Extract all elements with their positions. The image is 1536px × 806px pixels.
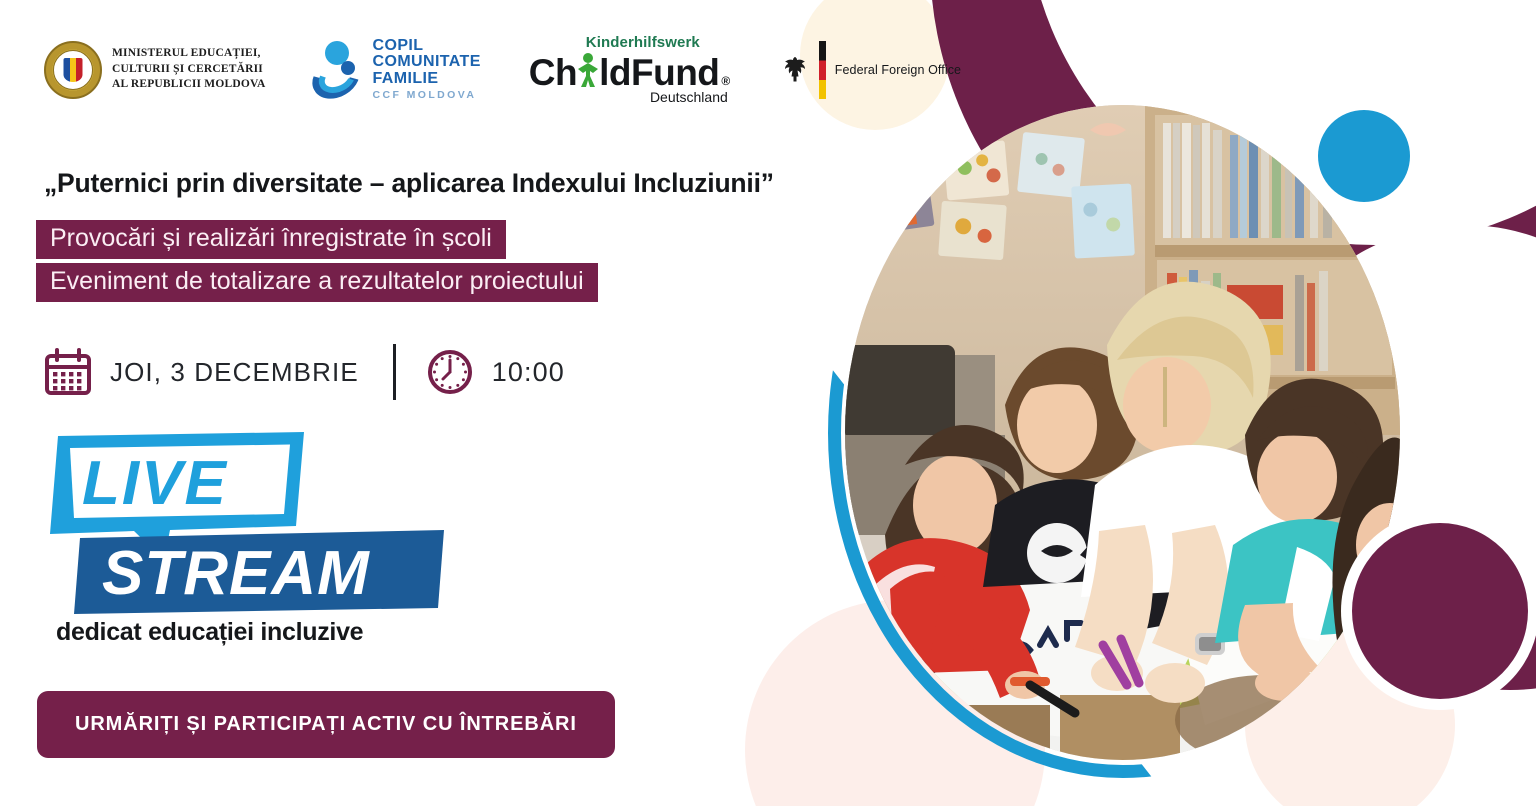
- childfund-person-icon: [577, 51, 599, 85]
- moldova-state-seal-icon: [44, 41, 102, 99]
- stream-word: STREAM: [102, 539, 370, 608]
- participate-cta-button[interactable]: URMĂRIȚI ȘI PARTICIPAȚI ACTIV CU ÎNTREBĂ…: [37, 691, 615, 758]
- ccf-logo-text: COPIL COMUNITATE FAMILIE CCF MOLDOVA: [373, 38, 481, 101]
- event-date-label: JOI, 3 DECEMBRIE: [110, 357, 359, 388]
- partner-logos: MINISTERUL EDUCAȚIEI, CULTURII ȘI CERCET…: [44, 34, 961, 105]
- event-datetime: JOI, 3 DECEMBRIE 10:00: [44, 344, 565, 400]
- childfund-country-label: Deutschland: [650, 89, 728, 105]
- ccf-line-1: COPIL: [373, 38, 481, 54]
- ministry-of-education-moldova-logo: MINISTERUL EDUCAȚIEI, CULTURII ȘI CERCET…: [44, 41, 266, 99]
- subtitle-bar-2: Eveniment de totalizare a rezultatelor p…: [36, 263, 598, 302]
- federal-foreign-office-label: Federal Foreign Office: [835, 63, 961, 77]
- live-stream-logo: LIVE STREAM dedicat educației incluzive: [46, 430, 446, 615]
- childfund-person-glyph: [576, 52, 600, 88]
- blue-dot-decoration: [1318, 110, 1410, 202]
- live-stream-caption: dedicat educației incluzive: [56, 618, 363, 647]
- maroon-dot-decoration: [1352, 523, 1528, 699]
- ccf-swoosh-icon: [311, 41, 365, 97]
- childfund-wordmark-pre: Ch: [529, 54, 577, 91]
- ccf-moldova-logo: COPIL COMUNITATE FAMILIE CCF MOLDOVA: [311, 38, 481, 101]
- ccf-line-2: COMUNITATE: [373, 54, 481, 70]
- german-eagle-icon: [782, 55, 810, 85]
- event-time-label: 10:00: [492, 357, 565, 388]
- german-flag-bar: [819, 41, 826, 99]
- live-word: LIVE: [82, 449, 228, 518]
- event-poster: MINISTERUL EDUCAȚIEI, CULTURII ȘI CERCET…: [0, 0, 1536, 806]
- ccf-sub-label: CCF MOLDOVA: [373, 90, 481, 101]
- childfund-kinderhilfswerk-label: Kinderhilfswerk: [586, 34, 700, 51]
- childfund-wordmark-post: ldFund: [599, 54, 719, 91]
- datetime-divider: [393, 344, 396, 400]
- childfund-wordmark: Ch ldFund ®: [529, 51, 730, 91]
- ccf-line-3: FAMILIE: [373, 71, 481, 87]
- live-stream-graphic: LIVE STREAM: [46, 430, 446, 615]
- page-title: „Puternici prin diversitate – aplicarea …: [44, 168, 774, 199]
- subtitle-bar-1: Provocări și realizări înregistrate în ș…: [36, 220, 506, 259]
- clock-icon: [426, 348, 474, 396]
- federal-foreign-office-logo: Federal Foreign Office: [782, 41, 961, 99]
- childfund-deutschland-logo: Kinderhilfswerk Ch ldFund ® Deutschland: [529, 34, 730, 105]
- ministry-logo-text: MINISTERUL EDUCAȚIEI, CULTURII ȘI CERCET…: [112, 46, 266, 93]
- calendar-icon: [44, 348, 92, 396]
